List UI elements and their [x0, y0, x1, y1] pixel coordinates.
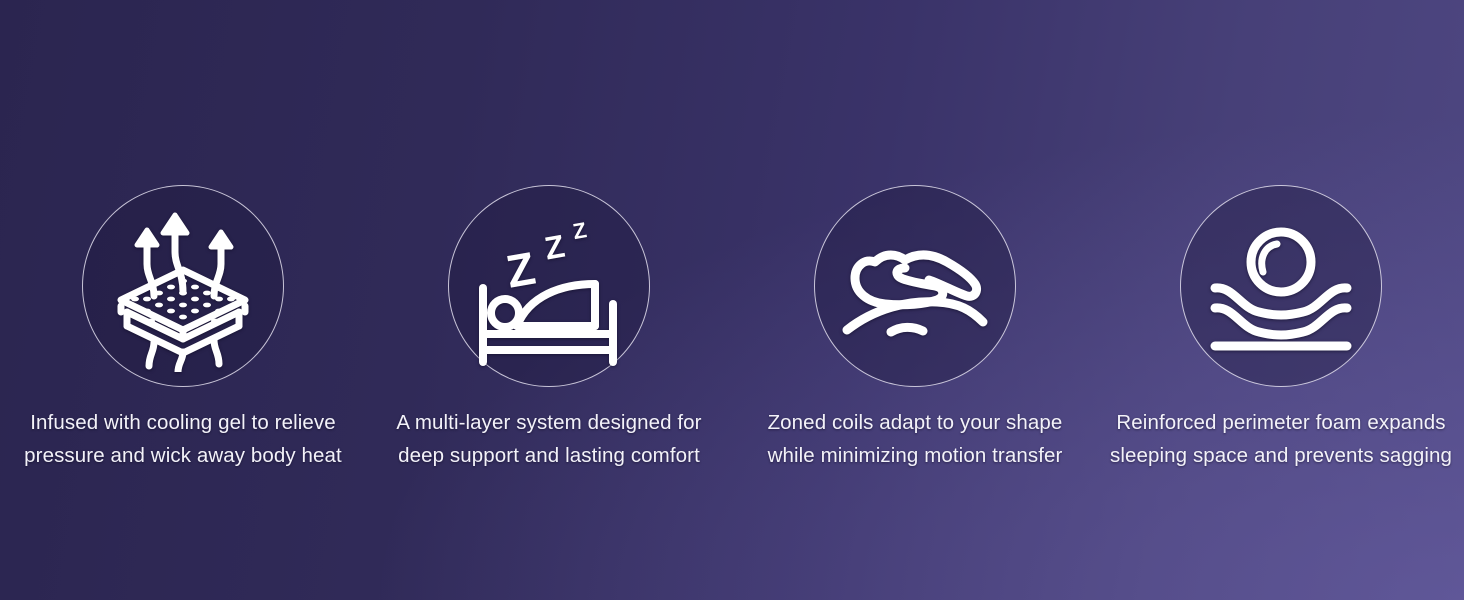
icon-circle-multilayer: Z Z Z [448, 185, 650, 387]
icon-circle-zoned-coils [814, 185, 1016, 387]
feature-item-zoned-coils: Zoned coils adapt to your shape while mi… [732, 185, 1098, 472]
caption-line: pressure and wick away body heat [3, 439, 363, 472]
svg-text:Z: Z [571, 217, 589, 244]
hand-pressing-curved-surface-icon [829, 200, 1001, 372]
icon-circle-cooling [82, 185, 284, 387]
feature-item-cooling: Infused with cooling gel to relieve pres… [0, 185, 366, 472]
caption-line: Infused with cooling gel to relieve [3, 406, 363, 439]
icon-circle-perimeter-foam [1180, 185, 1382, 387]
feature-caption-zoned-coils: Zoned coils adapt to your shape while mi… [735, 406, 1095, 472]
svg-text:Z: Z [502, 242, 539, 298]
cooling-layers-airflow-icon [97, 200, 269, 372]
ball-on-wavy-layers-icon [1195, 200, 1367, 372]
caption-line: while minimizing motion transfer [735, 439, 1095, 472]
feature-caption-multilayer: A multi-layer system designed for deep s… [369, 406, 729, 472]
feature-caption-perimeter-foam: Reinforced perimeter foam expands sleepi… [1101, 406, 1461, 472]
svg-text:Z: Z [542, 228, 568, 267]
caption-line: Reinforced perimeter foam expands [1101, 406, 1461, 439]
feature-caption-cooling: Infused with cooling gel to relieve pres… [3, 406, 363, 472]
sleeping-person-bed-zzz-icon: Z Z Z [463, 200, 635, 372]
caption-line: Zoned coils adapt to your shape [735, 406, 1095, 439]
feature-banner: Infused with cooling gel to relieve pres… [0, 0, 1464, 600]
caption-line: A multi-layer system designed for [369, 406, 729, 439]
caption-line: sleeping space and prevents sagging [1101, 439, 1461, 472]
caption-line: deep support and lasting comfort [369, 439, 729, 472]
feature-item-perimeter-foam: Reinforced perimeter foam expands sleepi… [1098, 185, 1464, 472]
feature-item-multilayer: Z Z Z [366, 185, 732, 472]
feature-list: Infused with cooling gel to relieve pres… [0, 0, 1464, 600]
